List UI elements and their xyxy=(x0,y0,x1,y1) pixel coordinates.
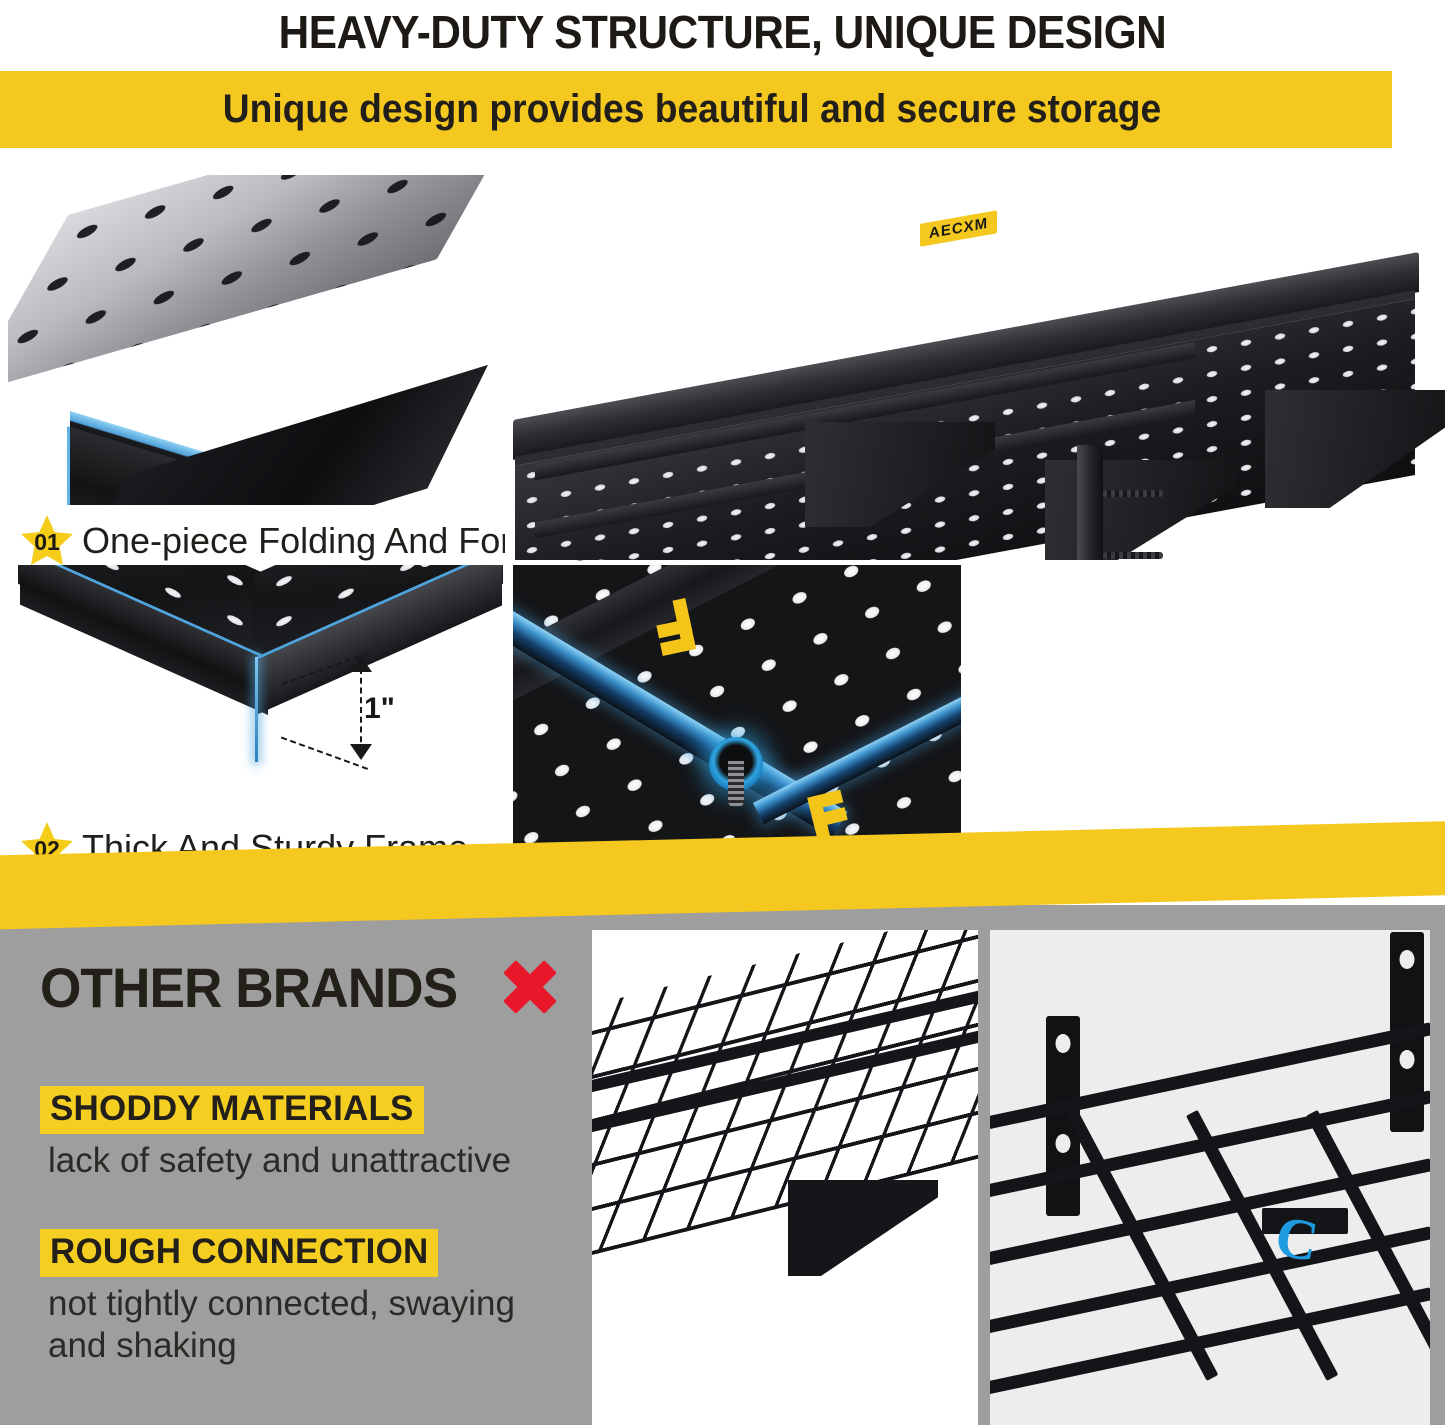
comparison-item-heading: ROUGH CONNECTION xyxy=(40,1229,438,1277)
competitor-image-bar-rack: C xyxy=(990,930,1430,1425)
comparison-item-rough-connection: ROUGH CONNECTION not tightly connected, … xyxy=(40,1229,580,1368)
bolt-icon xyxy=(709,737,763,791)
star-badge-icon: 01 xyxy=(18,513,76,569)
hero-product-image: AECXM xyxy=(505,160,1445,560)
comparison-item-body: not tightly connected, swaying and shaki… xyxy=(40,1283,580,1368)
dimension-annotation: 1" xyxy=(328,640,428,780)
comparison-title: OTHER BRANDS xyxy=(40,955,457,1020)
comparison-text-column: OTHER BRANDS SHODDY MATERIALS lack of sa… xyxy=(40,950,580,1368)
feature-image-one-piece-folding xyxy=(8,175,503,505)
comparison-header: OTHER BRANDS xyxy=(40,950,580,1024)
competitor-image-wire-rack xyxy=(592,930,978,1425)
comparison-item-shoddy-materials: SHODDY MATERIALS lack of safety and unat… xyxy=(40,1086,580,1183)
comparison-item-heading: SHODDY MATERIALS xyxy=(40,1086,424,1134)
brand-badge: AECXM xyxy=(920,210,997,247)
feature-image-thick-frame: 1" xyxy=(8,565,503,810)
dimension-value: 1" xyxy=(364,692,395,726)
page-title: HEAVY-DUTY STRUCTURE, UNIQUE DESIGN xyxy=(58,4,1387,60)
features-section: 01 One-piece Folding And Forming 1" xyxy=(0,160,1445,882)
header-banner: Unique design provides beautiful and sec… xyxy=(0,71,1392,148)
comparison-section: OTHER BRANDS SHODDY MATERIALS lack of sa… xyxy=(0,905,1445,1425)
feature-01-number: 01 xyxy=(34,529,60,555)
comparison-item-body: lack of safety and unattractive xyxy=(40,1140,580,1183)
infographic-page: HEAVY-DUTY STRUCTURE, UNIQUE DESIGN Uniq… xyxy=(0,0,1445,1425)
x-mark-icon xyxy=(493,950,567,1024)
page-subtitle: Unique design provides beautiful and sec… xyxy=(41,71,1343,148)
